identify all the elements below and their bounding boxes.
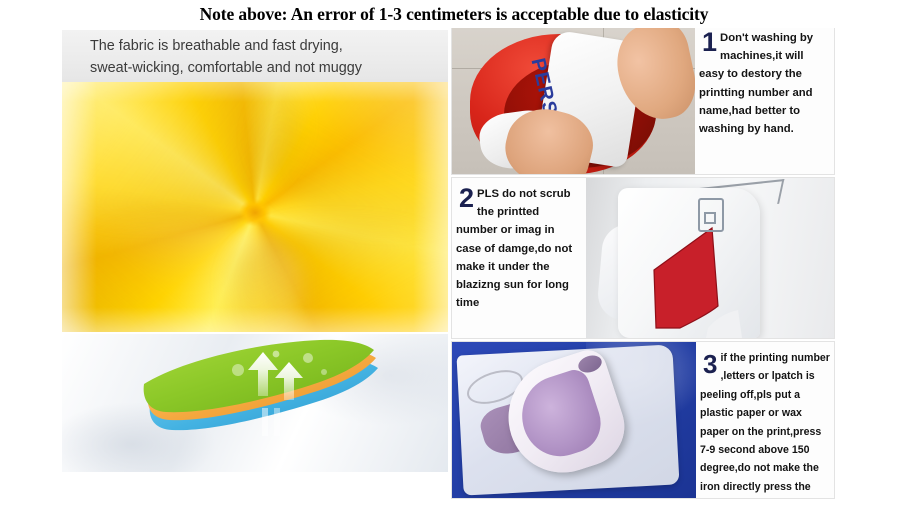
jersey-hem-highlight [706,310,742,338]
care-instruction-panel: aPR 3 if the printing number ,letters or… [452,342,834,498]
moisture-droplet [273,351,280,358]
step-text: if the printing number ,letters or lpatc… [700,352,830,498]
fabric-caption-band: The fabric is breathable and fast drying… [62,30,448,82]
moisture-droplet [232,364,244,376]
layered-fabric-illustration [62,334,448,472]
care-instructions-column: PERSIE 1 Don't washing by machines,it wi… [452,22,834,498]
step-number: 3 [703,351,717,377]
hand-washing-photo: PERSIE [452,22,695,174]
step-number: 1 [702,29,717,55]
size-error-note: Note above: An error of 1-3 centimeters … [200,4,709,25]
fabric-photo-vignette [62,82,448,332]
jersey-crest-logo [698,198,724,232]
care-instruction-text-block: 3 if the printing number ,letters or lpa… [696,342,834,498]
care-instruction-panel: PERSIE 1 Don't washing by machines,it wi… [452,22,834,174]
header-note-bar: Note above: An error of 1-3 centimeters … [0,0,908,28]
moisture-droplet [321,369,327,375]
yellow-fabric-photo [62,82,448,332]
fabric-caption-line-1: The fabric is breathable and fast drying… [90,35,448,57]
breathable-layers-diagram [62,334,448,472]
red-diamond-panel [654,228,718,328]
step-number: 2 [459,185,474,211]
moisture-droplet [303,353,313,363]
vapour-streak [274,408,280,436]
ironing-photo: aPR [452,342,696,498]
care-instruction-text-block: 1 Don't washing by machines,it will easy… [695,22,834,174]
fabric-caption-line-2: sweat-wicking, comfortable and not muggy [90,57,448,79]
jersey-on-hanger-photo [586,178,834,338]
vapour-streak [262,408,268,436]
care-instruction-text-block: 2 PLS do not scrub the printted number o… [452,178,586,338]
care-instruction-panel: 2 PLS do not scrub the printted number o… [452,178,834,338]
fabric-feature-column: The fabric is breathable and fast drying… [62,30,448,472]
